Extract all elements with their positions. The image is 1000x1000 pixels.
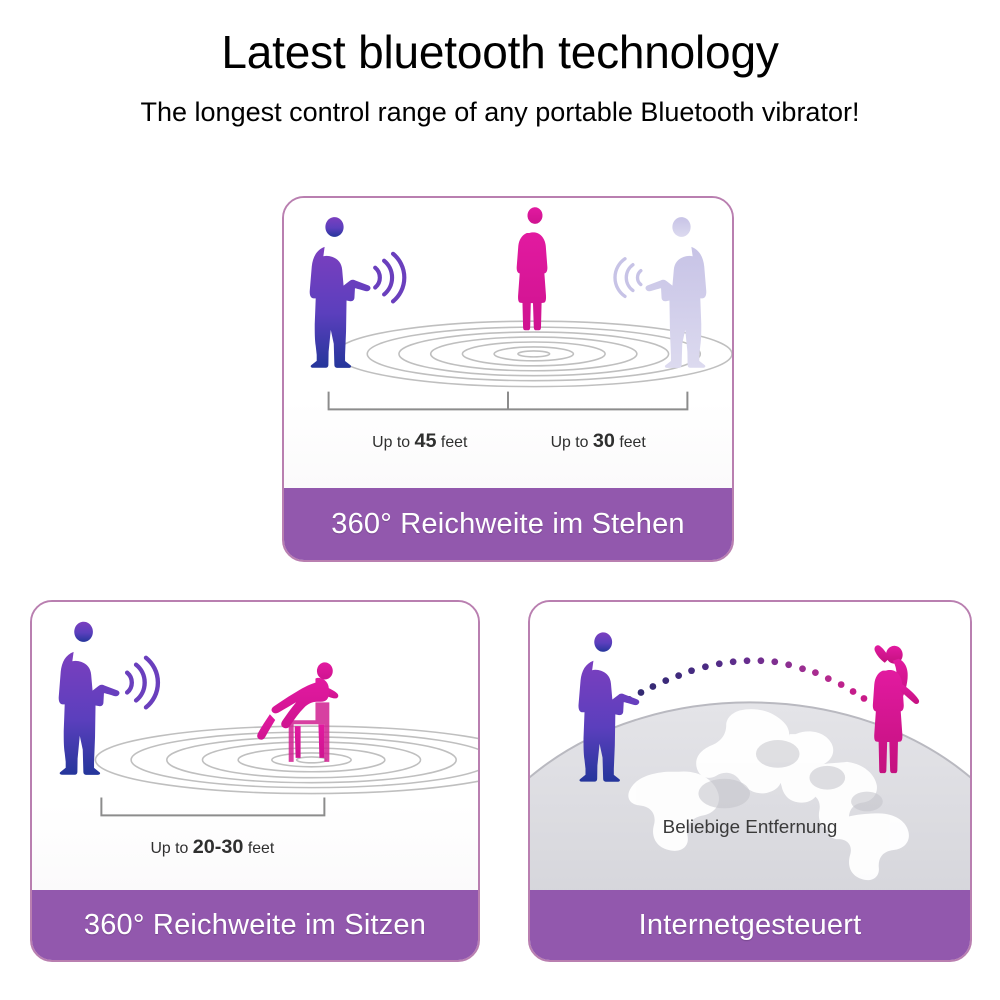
card-standing-illustration: Up to 45 feet Up to 30 feet (284, 198, 732, 488)
range-label-right: Up to 30 feet (551, 430, 647, 452)
card-sitting-illustration: Up to 20-30 feet (32, 602, 478, 890)
card-internet-footer: Internetgesteuert (530, 890, 970, 960)
card-internet-range: Beliebige Entfernung Internetgesteuert (528, 600, 972, 962)
card-standing-footer: 360° Reichweite im Stehen (284, 488, 732, 560)
card-sitting-footer-label: 360° Reichweite im Sitzen (84, 909, 426, 942)
card-standing-range: Up to 45 feet Up to 30 feet 360° Reichwe… (282, 196, 734, 562)
figure-woman-seated-on-chair (257, 662, 338, 761)
figure-man-with-remote (59, 622, 120, 775)
measure-bracket-icon (101, 798, 324, 816)
range-label-left: Up to 45 feet (372, 430, 468, 452)
signal-waves-icon (375, 254, 404, 302)
signal-waves-faded-icon (615, 259, 641, 297)
measure-bracket-icon (329, 392, 688, 410)
internet-range-diagram: Beliebige Entfernung (530, 602, 970, 890)
figure-man-with-remote (310, 217, 371, 368)
range-label: Up to 20-30 feet (150, 836, 274, 858)
card-standing-footer-label: 360° Reichweite im Stehen (331, 508, 685, 541)
page-subtitle: The longest control range of any portabl… (0, 98, 1000, 128)
card-sitting-footer: 360° Reichweite im Sitzen (32, 890, 478, 960)
sitting-range-diagram: Up to 20-30 feet (32, 602, 478, 890)
signal-waves-icon (127, 658, 158, 708)
figure-man-with-remote-faded (646, 217, 707, 368)
card-internet-footer-label: Internetgesteuert (639, 909, 862, 942)
standing-range-diagram: Up to 45 feet Up to 30 feet (284, 198, 732, 488)
card-internet-illustration: Beliebige Entfernung (530, 602, 970, 890)
card-internet-caption: Beliebige Entfernung (663, 816, 838, 837)
figure-woman-standing (517, 207, 548, 330)
header-block: Latest bluetooth technology The longest … (0, 0, 1000, 128)
dotted-arc-icon (626, 657, 873, 702)
page-title: Latest bluetooth technology (0, 28, 1000, 76)
card-sitting-range: Up to 20-30 feet 360° Reichweite im Sitz… (30, 600, 480, 962)
concentric-rings-icon (95, 726, 478, 793)
